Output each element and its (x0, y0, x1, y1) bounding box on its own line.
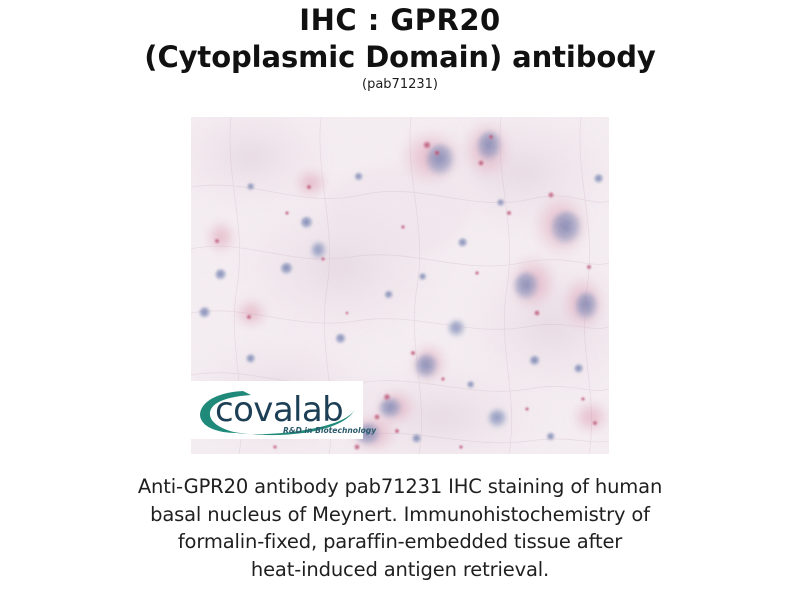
page-title-block: IHC : GPR20 (Cytoplasmic Domain) antibod… (0, 2, 800, 93)
caption-line-3: formalin-fixed, paraffin-embedded tissue… (78, 528, 722, 556)
page-title-primary: IHC : GPR20 (0, 2, 800, 38)
caption-line-4: heat-induced antigen retrieval. (78, 556, 722, 584)
catalog-number: (pab71231) (0, 77, 800, 93)
covalab-watermark: covalab R&D in Biotechnology (191, 381, 377, 439)
figure-caption: Anti-GPR20 antibody pab71231 IHC stainin… (78, 473, 722, 583)
page-title-secondary: (Cytoplasmic Domain) antibody (0, 38, 800, 76)
logo-wordmark: covalab (215, 390, 343, 430)
caption-line-2: basal nucleus of Meynert. Immunohistoche… (78, 501, 722, 529)
logo-tagline: R&D in Biotechnology (283, 426, 377, 435)
caption-line-1: Anti-GPR20 antibody pab71231 IHC stainin… (78, 473, 722, 501)
ihc-micrograph: covalab R&D in Biotechnology (191, 117, 609, 454)
micrograph-canvas: covalab R&D in Biotechnology (191, 117, 609, 454)
